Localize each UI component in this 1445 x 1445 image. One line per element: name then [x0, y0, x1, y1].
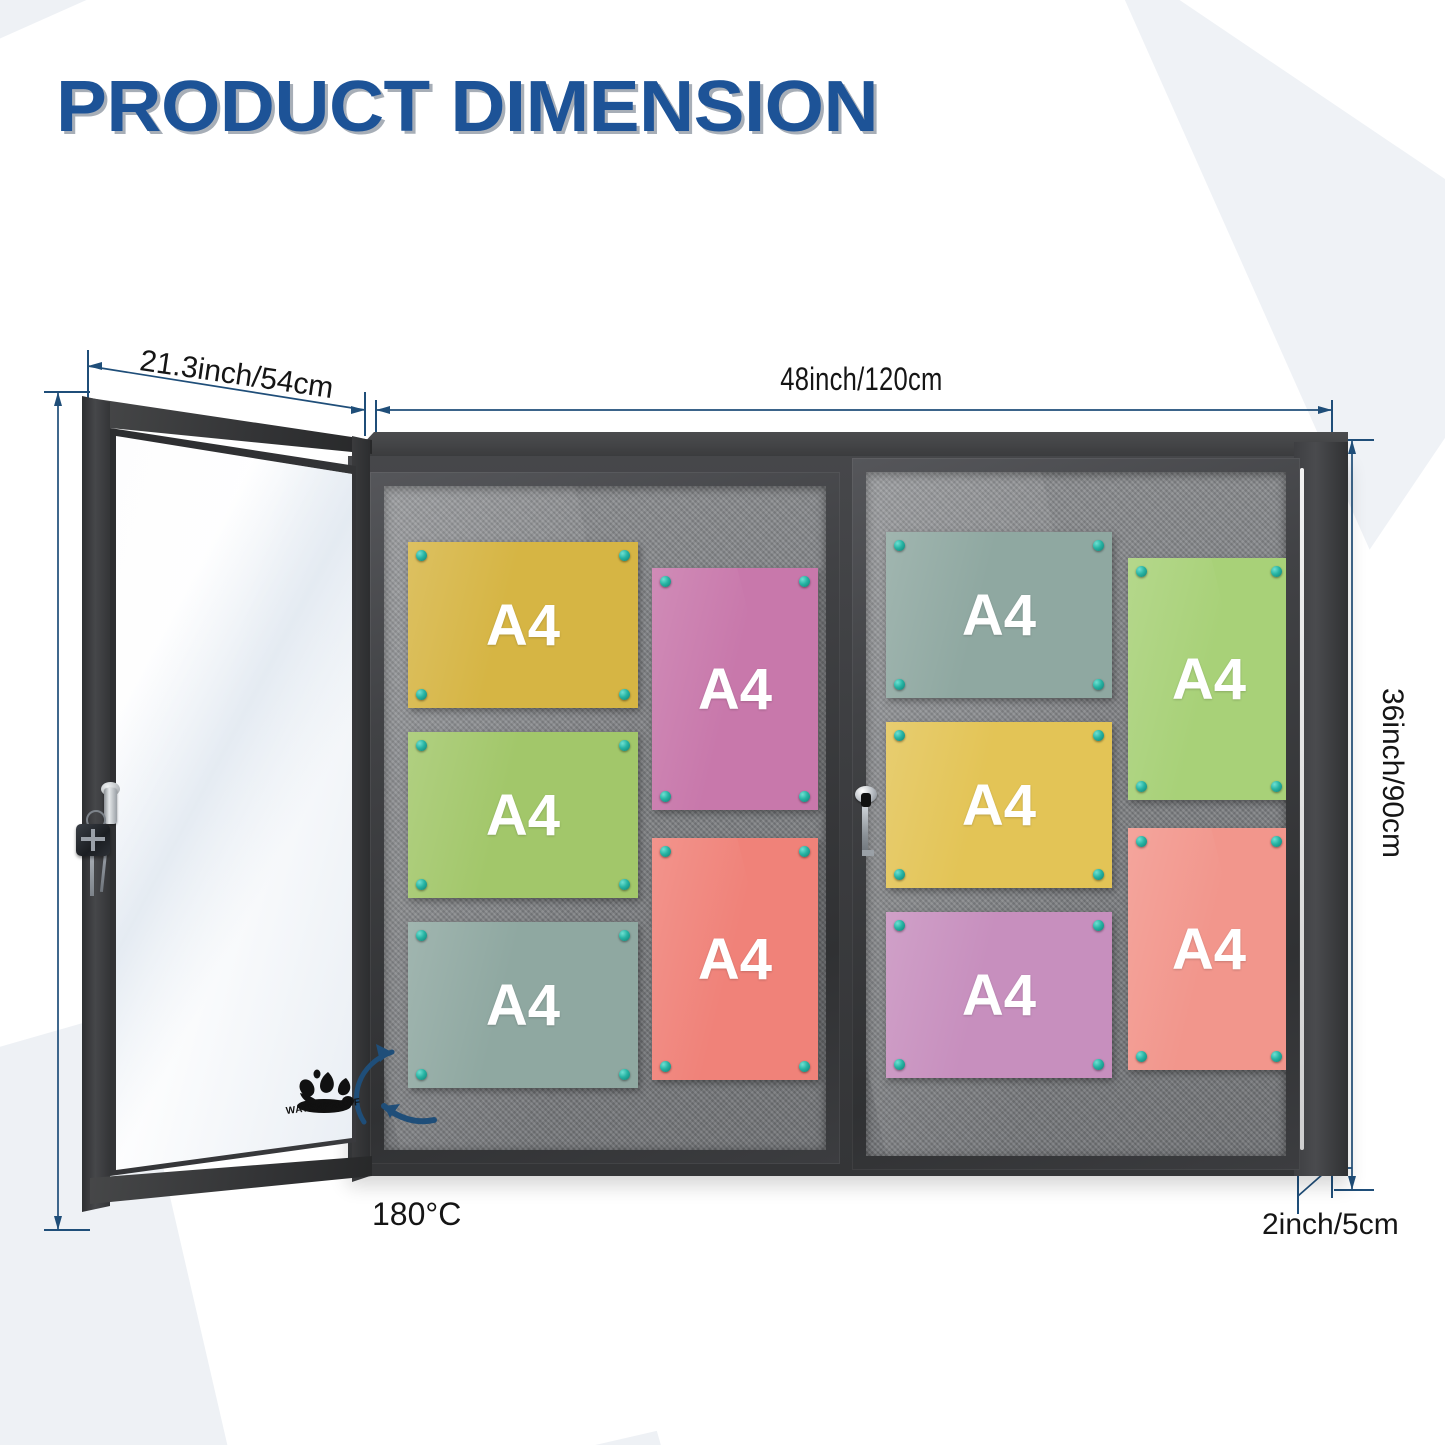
dimension-label-width: 48inch/120cm: [780, 361, 942, 398]
pin-icon: [1271, 781, 1282, 792]
poster-left-top-left[interactable]: A4: [408, 542, 638, 708]
center-lock-keyhole-icon: [861, 793, 871, 807]
pin-icon: [1093, 540, 1104, 551]
page-title: PRODUCT DIMENSION: [56, 66, 878, 148]
pin-icon: [894, 540, 905, 551]
center-key-tip-icon: [862, 850, 874, 856]
pin-icon: [799, 576, 810, 587]
pin-icon: [1136, 566, 1147, 577]
pin-icon: [416, 740, 427, 751]
poster-label: A4: [962, 962, 1036, 1029]
poster-label: A4: [1172, 646, 1246, 713]
waterproof-pointer-arrow-icon: [324, 1062, 444, 1142]
display-cabinet: A4 A4 A4: [348, 432, 1348, 1180]
poster-right-bottom-right[interactable]: A4: [1128, 828, 1286, 1070]
pin-icon: [660, 846, 671, 857]
key-shaft-icon: [90, 854, 94, 896]
poster-right-top-left[interactable]: A4: [886, 532, 1112, 698]
pin-icon: [1093, 1059, 1104, 1070]
pin-icon: [619, 550, 630, 561]
pin-icon: [1271, 1051, 1282, 1062]
right-panel-fabric-backing: A4 A4 A4: [866, 472, 1286, 1156]
pin-icon: [799, 791, 810, 802]
poster-label: A4: [698, 926, 772, 993]
poster-left-middle-left[interactable]: A4: [408, 732, 638, 898]
pin-icon: [660, 791, 671, 802]
poster-label: A4: [962, 772, 1036, 839]
pin-icon: [619, 740, 630, 751]
pin-icon: [619, 1069, 630, 1080]
right-display-panel[interactable]: A4 A4 A4: [852, 458, 1300, 1170]
poster-label: A4: [962, 582, 1036, 649]
pin-icon: [1093, 920, 1104, 931]
poster-right-bottom-left[interactable]: A4: [886, 912, 1112, 1078]
poster-label: A4: [698, 656, 772, 723]
pin-icon: [416, 930, 427, 941]
poster-right-top-right[interactable]: A4: [1128, 558, 1286, 800]
pin-icon: [894, 679, 905, 690]
poster-left-top-right[interactable]: A4: [652, 568, 818, 810]
pin-icon: [894, 869, 905, 880]
poster-right-middle-left[interactable]: A4: [886, 722, 1112, 888]
pin-icon: [894, 1059, 905, 1070]
product-dimension-infographic: PRODUCT DIMENSION 21.3inch/54cm 48inch/1…: [0, 0, 1445, 1445]
poster-label: A4: [486, 972, 560, 1039]
pin-icon: [1271, 836, 1282, 847]
left-panel-fabric-backing: A4 A4 A4: [384, 486, 826, 1150]
pin-icon: [1271, 566, 1282, 577]
pin-icon: [660, 576, 671, 587]
pin-icon: [894, 730, 905, 741]
pin-icon: [1136, 781, 1147, 792]
pin-icon: [1136, 1051, 1147, 1062]
poster-label: A4: [1172, 916, 1246, 983]
pin-icon: [799, 1061, 810, 1072]
pin-icon: [799, 846, 810, 857]
pin-icon: [619, 930, 630, 941]
pin-icon: [1093, 730, 1104, 741]
pin-icon: [619, 879, 630, 890]
key-emblem-icon: [81, 837, 105, 841]
poster-left-bottom-right[interactable]: A4: [652, 838, 818, 1080]
poster-label: A4: [486, 592, 560, 659]
dimension-label-frame-depth: 2inch/5cm: [1262, 1208, 1399, 1242]
pin-icon: [416, 689, 427, 700]
cabinet-edge-highlight: [1300, 468, 1304, 1150]
poster-label: A4: [486, 782, 560, 849]
pin-icon: [894, 920, 905, 931]
dimension-label-door-swing: 180°C: [372, 1196, 461, 1233]
pin-icon: [416, 550, 427, 561]
pin-icon: [1093, 679, 1104, 690]
pin-icon: [416, 879, 427, 890]
center-key-icon: [862, 806, 868, 854]
dimension-label-cabinet-height: 36inch/90cm: [1375, 688, 1409, 858]
door-glass-reflection: [116, 432, 354, 1172]
pin-icon: [619, 689, 630, 700]
pin-icon: [660, 1061, 671, 1072]
pin-icon: [1093, 869, 1104, 880]
waterproof-badge: WATERPROOF: [284, 1062, 414, 1132]
pin-icon: [1136, 836, 1147, 847]
